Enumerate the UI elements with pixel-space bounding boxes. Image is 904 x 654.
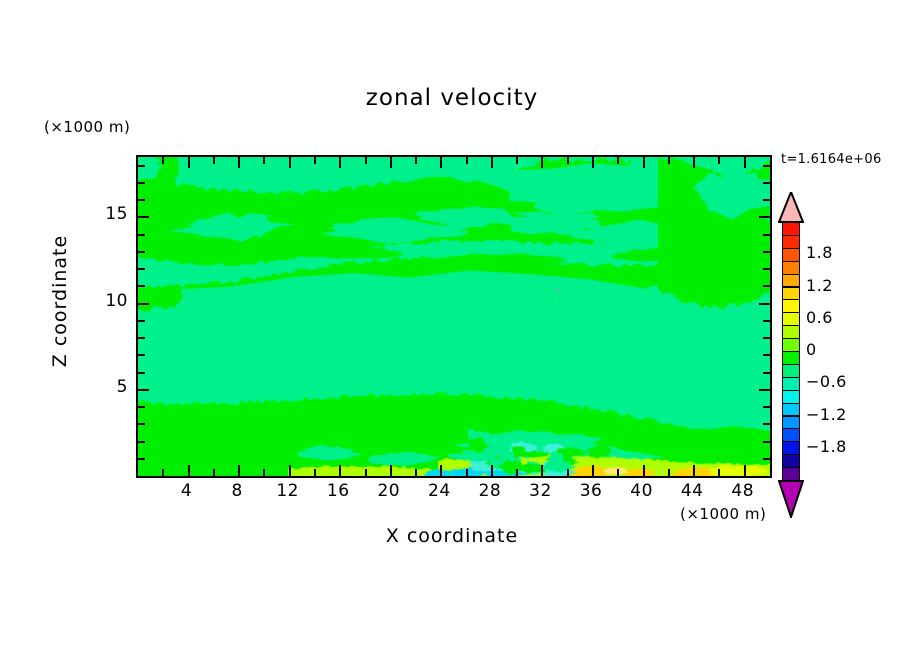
y-tick-right [763,320,770,322]
y-tick-right [763,354,770,356]
x-tick-top [643,157,645,168]
x-tick-top [744,157,746,168]
x-tick-top [289,157,291,168]
colorbar-band [782,467,800,481]
colorbar-band [782,274,800,288]
y-axis-title: Z coordinate [49,211,71,391]
x-tick [162,469,164,476]
y-tick-label: 5 [88,377,128,397]
y-tick [138,285,145,287]
colorbar-band [782,428,800,442]
x-tick [263,469,265,476]
y-tick [138,251,145,253]
x-tick [415,469,417,476]
colorbar-band [782,261,800,275]
y-tick-right [763,423,770,425]
x-tick [668,469,670,476]
x-tick-top [693,157,695,168]
colorbar-band [782,287,800,301]
x-tick-top [617,157,619,164]
y-tick [138,458,145,460]
colorbar-label: −0.6 [806,372,847,391]
x-tick-top [718,157,720,164]
y-tick [138,337,145,339]
x-tick-label: 8 [217,481,257,501]
x-tick-top [238,157,240,168]
y-tick [138,389,149,391]
colorbar-band [782,364,800,378]
y-tick-right [763,199,770,201]
y-tick-right [759,389,770,391]
x-tick-label: 16 [318,481,358,501]
colorbar-label: 0 [806,340,817,359]
x-tick-label: 24 [419,481,459,501]
x-tick [314,469,316,476]
x-tick-top [314,157,316,164]
colorbar-over-arrow [778,192,804,223]
x-tick-label: 20 [369,481,409,501]
colorbar-band [782,325,800,339]
y-tick [138,199,145,201]
x-tick-top [390,157,392,168]
x-tick-label: 36 [571,481,611,501]
colorbar-band [782,441,800,455]
colorbar-band [782,390,800,404]
colorbar-band [782,351,800,365]
x-tick [466,469,468,476]
x-tick-label: 44 [672,481,712,501]
y-tick-right [763,268,770,270]
x-tick-top [365,157,367,164]
y-tick-right [763,458,770,460]
x-tick-top [440,157,442,168]
x-tick-top [668,157,670,164]
y-tick [138,406,145,408]
plot-area [136,155,772,478]
x-tick-label: 48 [723,481,763,501]
x-tick [693,465,695,476]
y-tick [138,234,145,236]
x-tick [390,465,392,476]
x-tick [744,465,746,476]
y-tick-right [763,406,770,408]
x-tick [718,469,720,476]
x-tick [617,469,619,476]
x-tick [238,465,240,476]
x-tick [491,465,493,476]
x-tick [592,465,594,476]
x-tick-top [541,157,543,168]
y-tick [138,268,145,270]
contour-field [138,157,770,476]
x-tick-top [466,157,468,164]
timestamp-annotation: t=1.6164e+06 [781,152,882,167]
x-tick-top [516,157,518,164]
y-tick-right [763,165,770,167]
colorbar-band [782,235,800,249]
colorbar-band [782,222,800,236]
x-tick [188,465,190,476]
x-tick-top [491,157,493,168]
y-axis-unit-label: (×1000 m) [44,118,130,136]
colorbar-band [782,454,800,468]
x-tick-label: 4 [167,481,207,501]
colorbar-label: −1.8 [806,437,847,456]
colorbar [782,222,800,480]
colorbar-band [782,299,800,313]
x-tick-top [339,157,341,168]
y-tick [138,165,145,167]
x-tick [440,465,442,476]
colorbar-band [782,403,800,417]
contour-plot-page: zonal velocity (×1000 m) Z coordinate X … [0,0,904,654]
colorbar-under-arrow [778,480,804,518]
colorbar-label: 0.6 [806,308,833,327]
x-tick-top [162,157,164,164]
colorbar-label: 1.2 [806,276,833,295]
y-tick-right [763,372,770,374]
y-tick [138,441,145,443]
x-tick [516,469,518,476]
x-tick-label: 32 [520,481,560,501]
x-tick [567,469,569,476]
y-tick-label: 10 [88,291,128,311]
y-tick-right [763,251,770,253]
colorbar-band [782,416,800,430]
y-tick [138,354,145,356]
y-tick-right [759,216,770,218]
y-tick-right [763,285,770,287]
x-tick-label: 40 [622,481,662,501]
x-tick-top [592,157,594,168]
y-tick [138,423,145,425]
colorbar-band [782,248,800,262]
y-tick [138,320,145,322]
x-tick-label: 28 [470,481,510,501]
x-tick-top [213,157,215,164]
page-title: zonal velocity [0,85,904,111]
x-tick-top [188,157,190,168]
colorbar-band [782,312,800,326]
x-axis-unit-label: (×1000 m) [680,505,766,523]
x-tick-top [567,157,569,164]
y-tick-right [763,337,770,339]
x-axis-title: X coordinate [136,525,768,547]
x-tick [339,465,341,476]
x-tick [643,465,645,476]
colorbar-label: 1.8 [806,243,833,262]
colorbar-label: −1.2 [806,405,847,424]
y-tick [138,182,145,184]
y-tick-right [763,234,770,236]
x-tick [541,465,543,476]
x-tick [365,469,367,476]
y-tick-right [763,441,770,443]
y-tick [138,372,145,374]
x-tick-top [263,157,265,164]
x-tick-top [415,157,417,164]
x-tick [213,469,215,476]
y-tick [138,216,149,218]
colorbar-band [782,377,800,391]
y-tick-label: 15 [88,204,128,224]
y-tick-right [763,182,770,184]
y-tick [138,303,149,305]
x-tick [289,465,291,476]
x-tick-label: 12 [268,481,308,501]
y-tick-right [759,303,770,305]
colorbar-band [782,338,800,352]
